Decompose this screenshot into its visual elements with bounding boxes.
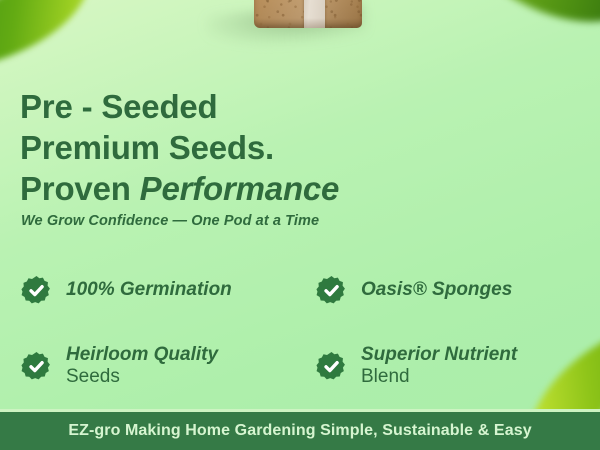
headline: Pre - Seeded Premium Seeds. Proven Perfo… [20, 86, 440, 209]
product-box-bottom-shade [254, 18, 362, 28]
check-badge-icon [21, 351, 52, 382]
check-badge-icon [316, 351, 347, 382]
feature-secondary: Seeds [66, 366, 218, 388]
feature-label: 100% Germination [66, 279, 232, 301]
seed-pod-box-image [254, 0, 362, 28]
bottom-banner: EZ-gro Making Home Gardening Simple, Sus… [0, 412, 600, 450]
headline-line-2: Premium Seeds. [20, 127, 440, 168]
check-badge-icon [316, 275, 347, 306]
feature-primary: 100% Germination [66, 279, 232, 301]
feature-item-germination: 100% Germination [21, 252, 316, 328]
feature-secondary: Blend [361, 366, 517, 388]
tagline: We Grow Confidence — One Pod at a Time [21, 213, 319, 229]
feature-label: Oasis® Sponges [361, 279, 512, 301]
feature-item-oasis-sponges: Oasis® Sponges [316, 252, 581, 328]
leaf-icon-top-right [497, 0, 600, 62]
feature-primary: Oasis® Sponges [361, 279, 512, 301]
headline-line-1: Pre - Seeded [20, 86, 440, 127]
promo-graphic: Pre - Seeded Premium Seeds. Proven Perfo… [0, 0, 600, 450]
feature-item-heirloom-quality-seeds: Heirloom Quality Seeds [21, 328, 316, 404]
banner-text: EZ-gro Making Home Gardening Simple, Sus… [68, 422, 531, 440]
check-badge-icon [21, 275, 52, 306]
feature-primary: Heirloom Quality [66, 344, 218, 366]
feature-item-superior-nutrient-blend: Superior Nutrient Blend [316, 328, 581, 404]
leaf-icon-top-left [0, 0, 103, 70]
feature-primary: Superior Nutrient [361, 344, 517, 366]
headline-line-3-accent: Performance [140, 170, 340, 207]
headline-line-3-plain: Proven [20, 170, 140, 207]
feature-label: Superior Nutrient Blend [361, 344, 517, 388]
feature-list: 100% Germination Oasis® Sponges Heirloom… [21, 252, 581, 404]
feature-label: Heirloom Quality Seeds [66, 344, 218, 388]
headline-line-3: Proven Performance [20, 168, 440, 209]
